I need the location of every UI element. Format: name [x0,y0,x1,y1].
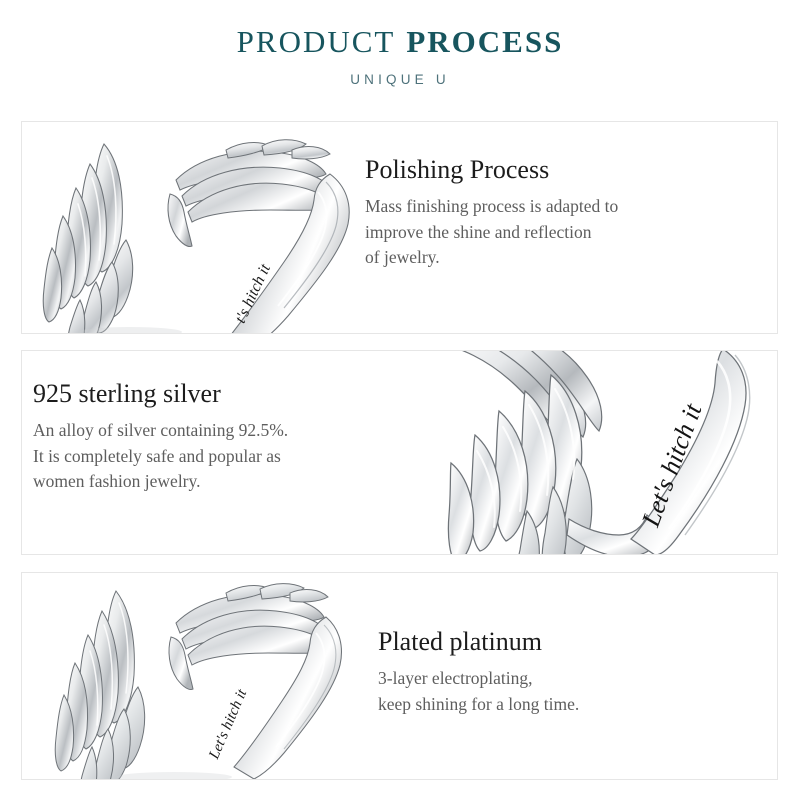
panel-1-body: Mass finishing process is adapted to imp… [365,194,618,270]
page-title-part2: PROCESS [406,24,563,59]
page-header: PRODUCTPROCESS UNIQUE U [0,0,800,87]
panel-2-body-line-3: women fashion jewelry. [33,469,288,494]
panel-3-body: 3-layer electroplating, keep shining for… [378,666,579,717]
page-subtitle: UNIQUE U [0,72,800,87]
engraving-text-2: Let's hitch it [636,399,708,531]
panel-2-body-line-2: It is completely safe and popular as [33,444,288,469]
panel-2-body-line-1: An alloy of silver containing 92.5%. [33,418,288,443]
page-title-part1: PRODUCT [237,24,396,59]
panel-1-body-line-2: improve the shine and reflection [365,220,618,245]
product-image-sterling-silver: Let's hitch it [417,350,778,555]
svg-text:Let's hitch it: Let's hitch it [206,686,251,762]
panel-3-text-block: Plated platinum 3-layer electroplating, … [378,626,579,717]
svg-text:Let's hitch it: Let's hitch it [636,399,708,531]
panel-2-text-block: 925 sterling silver An alloy of silver c… [33,378,288,494]
feature-panel-sterling-silver: Let's hitch it 925 sterling silver An al… [21,350,778,555]
feature-panel-polishing: t's hitch it Polishing Process Mass fini… [21,121,778,334]
panel-3-body-line-1: 3-layer electroplating, [378,666,579,691]
panel-2-heading: 925 sterling silver [33,378,288,409]
panel-3-body-line-2: keep shining for a long time. [378,692,579,717]
panel-1-body-line-1: Mass finishing process is adapted to [365,194,618,219]
feature-panel-plated-platinum: Let's hitch it Plated platinum 3-layer e… [21,572,778,780]
svg-text:t's hitch it: t's hitch it [232,261,274,326]
panel-1-heading: Polishing Process [365,154,618,185]
product-image-polishing: t's hitch it [30,121,380,334]
panel-3-heading: Plated platinum [378,626,579,657]
page-title: PRODUCTPROCESS [0,26,800,59]
engraving-text-1: t's hitch it [232,261,274,326]
product-image-plated-platinum: Let's hitch it [44,577,374,780]
engraving-text-3: Let's hitch it [206,686,251,762]
infographic-page: PRODUCTPROCESS UNIQUE U [0,0,800,798]
panel-1-text-block: Polishing Process Mass finishing process… [365,154,618,270]
panel-1-body-line-3: of jewelry. [365,245,618,270]
panel-2-body: An alloy of silver containing 92.5%. It … [33,418,288,494]
